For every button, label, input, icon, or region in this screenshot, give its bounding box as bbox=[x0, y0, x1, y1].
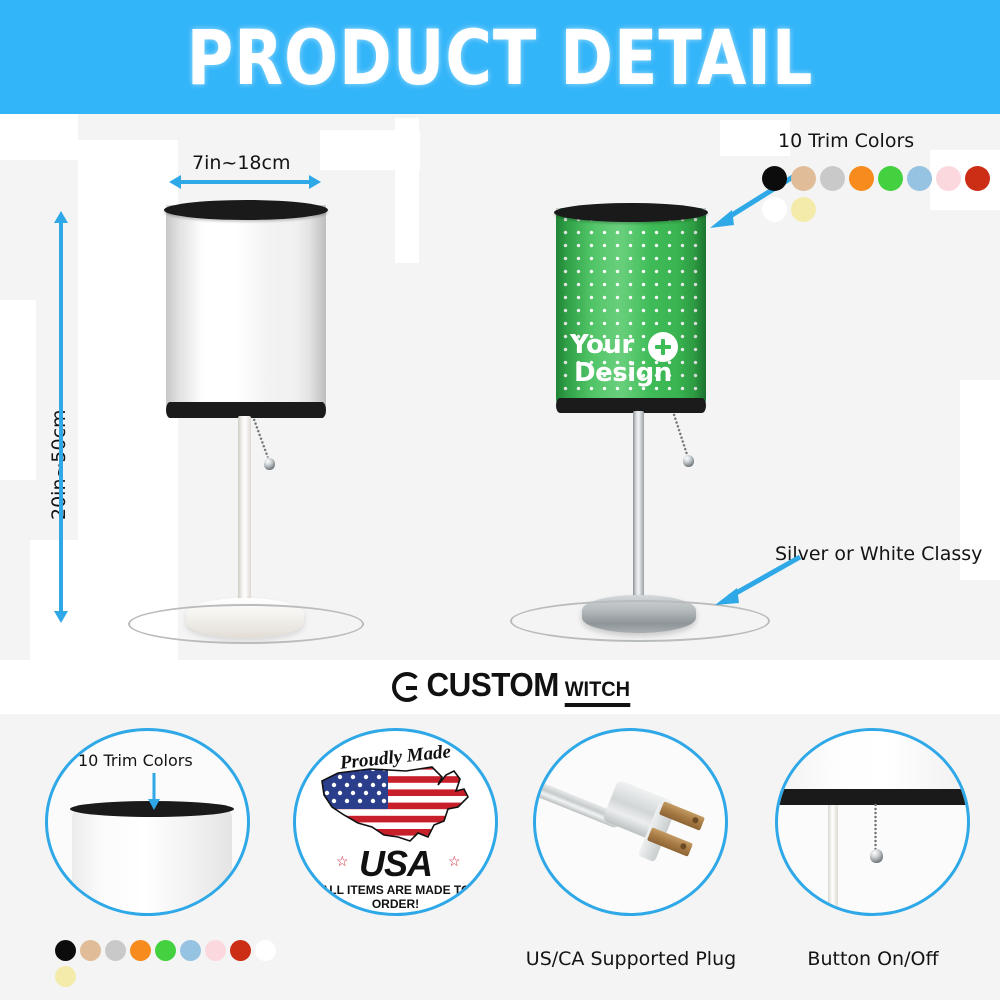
mini-pole bbox=[828, 805, 838, 915]
trim-colors-callout-label: 10 Trim Colors bbox=[778, 130, 914, 152]
swatch-white[interactable] bbox=[255, 940, 276, 961]
swatch-light-blue[interactable] bbox=[180, 940, 201, 961]
your-design-line1: Your bbox=[570, 330, 634, 360]
shade-surface bbox=[166, 205, 326, 415]
trim-bottom-green-lamp bbox=[556, 398, 706, 413]
logo-secondary-text: WITCH bbox=[565, 678, 630, 707]
mini-shade-white bbox=[72, 809, 232, 916]
pull-chain-green-lamp[interactable] bbox=[672, 413, 702, 473]
width-dimension-label: 7in~18cm bbox=[192, 152, 290, 174]
swatch-light-blue[interactable] bbox=[907, 166, 932, 191]
swatch-gray[interactable] bbox=[105, 940, 126, 961]
brand-logo: CUSTOM WITCH bbox=[392, 666, 632, 707]
mini-trim-black-bottom bbox=[775, 789, 970, 805]
lampshade-white bbox=[166, 205, 326, 415]
mini-trim-arrow-icon bbox=[144, 773, 164, 813]
usa-badge-big: USA bbox=[296, 843, 495, 885]
swatch-dark-red[interactable] bbox=[965, 166, 990, 191]
swatch-black[interactable] bbox=[762, 166, 787, 191]
usa-flag-map-icon bbox=[314, 763, 484, 849]
swatch-cream[interactable] bbox=[55, 966, 76, 987]
power-cord-white-lamp bbox=[128, 604, 364, 644]
pull-chain-white-lamp[interactable] bbox=[252, 418, 282, 478]
swatch-white[interactable] bbox=[762, 197, 787, 222]
bg-patch bbox=[0, 300, 36, 480]
product-detail-page: PRODUCT DETAIL bbox=[0, 0, 1000, 1000]
base-finish-callout-arrow bbox=[695, 545, 815, 615]
plug-caption: US/CA Supported Plug bbox=[505, 948, 757, 970]
swatch-tan[interactable] bbox=[791, 166, 816, 191]
feature-circle-usa: Proudly Made in the bbox=[293, 728, 498, 916]
swatch-dark-red[interactable] bbox=[230, 940, 251, 961]
mini-shade-bottom bbox=[775, 728, 970, 795]
your-design-artwork: Your Design bbox=[564, 330, 698, 392]
mini-trim-colors-label: 10 Trim Colors bbox=[78, 751, 193, 770]
logo-c-mark-icon bbox=[392, 672, 422, 702]
bg-patch bbox=[30, 540, 80, 670]
trim-color-swatches-top[interactable] bbox=[762, 166, 1000, 228]
your-design-line2: Design bbox=[574, 358, 672, 388]
feature-circle-button bbox=[775, 728, 970, 916]
lampshade-green: Your Design bbox=[556, 208, 706, 408]
swatch-orange[interactable] bbox=[849, 166, 874, 191]
swatch-green[interactable] bbox=[878, 166, 903, 191]
lamp-pole-silver bbox=[633, 411, 644, 601]
swatch-cream[interactable] bbox=[791, 197, 816, 222]
button-caption: Button On/Off bbox=[748, 948, 998, 970]
swatch-pink[interactable] bbox=[936, 166, 961, 191]
bg-patch bbox=[78, 140, 178, 660]
lamp-pole-white bbox=[238, 416, 251, 606]
width-dimension-arrow bbox=[180, 180, 310, 184]
logo-primary-text: CUSTOM bbox=[426, 666, 558, 704]
swatch-orange[interactable] bbox=[130, 940, 151, 961]
swatch-black[interactable] bbox=[55, 940, 76, 961]
feature-circle-trim: 10 Trim Colors bbox=[45, 728, 250, 916]
trim-top-green-lamp bbox=[554, 203, 708, 222]
usa-badge-sub: ALL ITEMS ARE MADE TO ORDER! bbox=[296, 883, 495, 911]
mini-pull-chain[interactable] bbox=[874, 803, 894, 873]
trim-color-swatches-bottom[interactable] bbox=[55, 940, 295, 992]
swatch-gray[interactable] bbox=[820, 166, 845, 191]
star-right-icon: ☆ bbox=[448, 853, 461, 870]
height-dimension-arrow bbox=[59, 222, 63, 612]
bg-patch bbox=[395, 118, 419, 263]
feature-circle-plug bbox=[533, 728, 728, 916]
page-title: PRODUCT DETAIL bbox=[187, 13, 814, 102]
trim-top-white-lamp bbox=[164, 200, 328, 220]
header-banner: PRODUCT DETAIL bbox=[0, 0, 1000, 114]
swatch-green[interactable] bbox=[155, 940, 176, 961]
swatch-pink[interactable] bbox=[205, 940, 226, 961]
swatch-tan[interactable] bbox=[80, 940, 101, 961]
bg-patch bbox=[0, 114, 78, 160]
